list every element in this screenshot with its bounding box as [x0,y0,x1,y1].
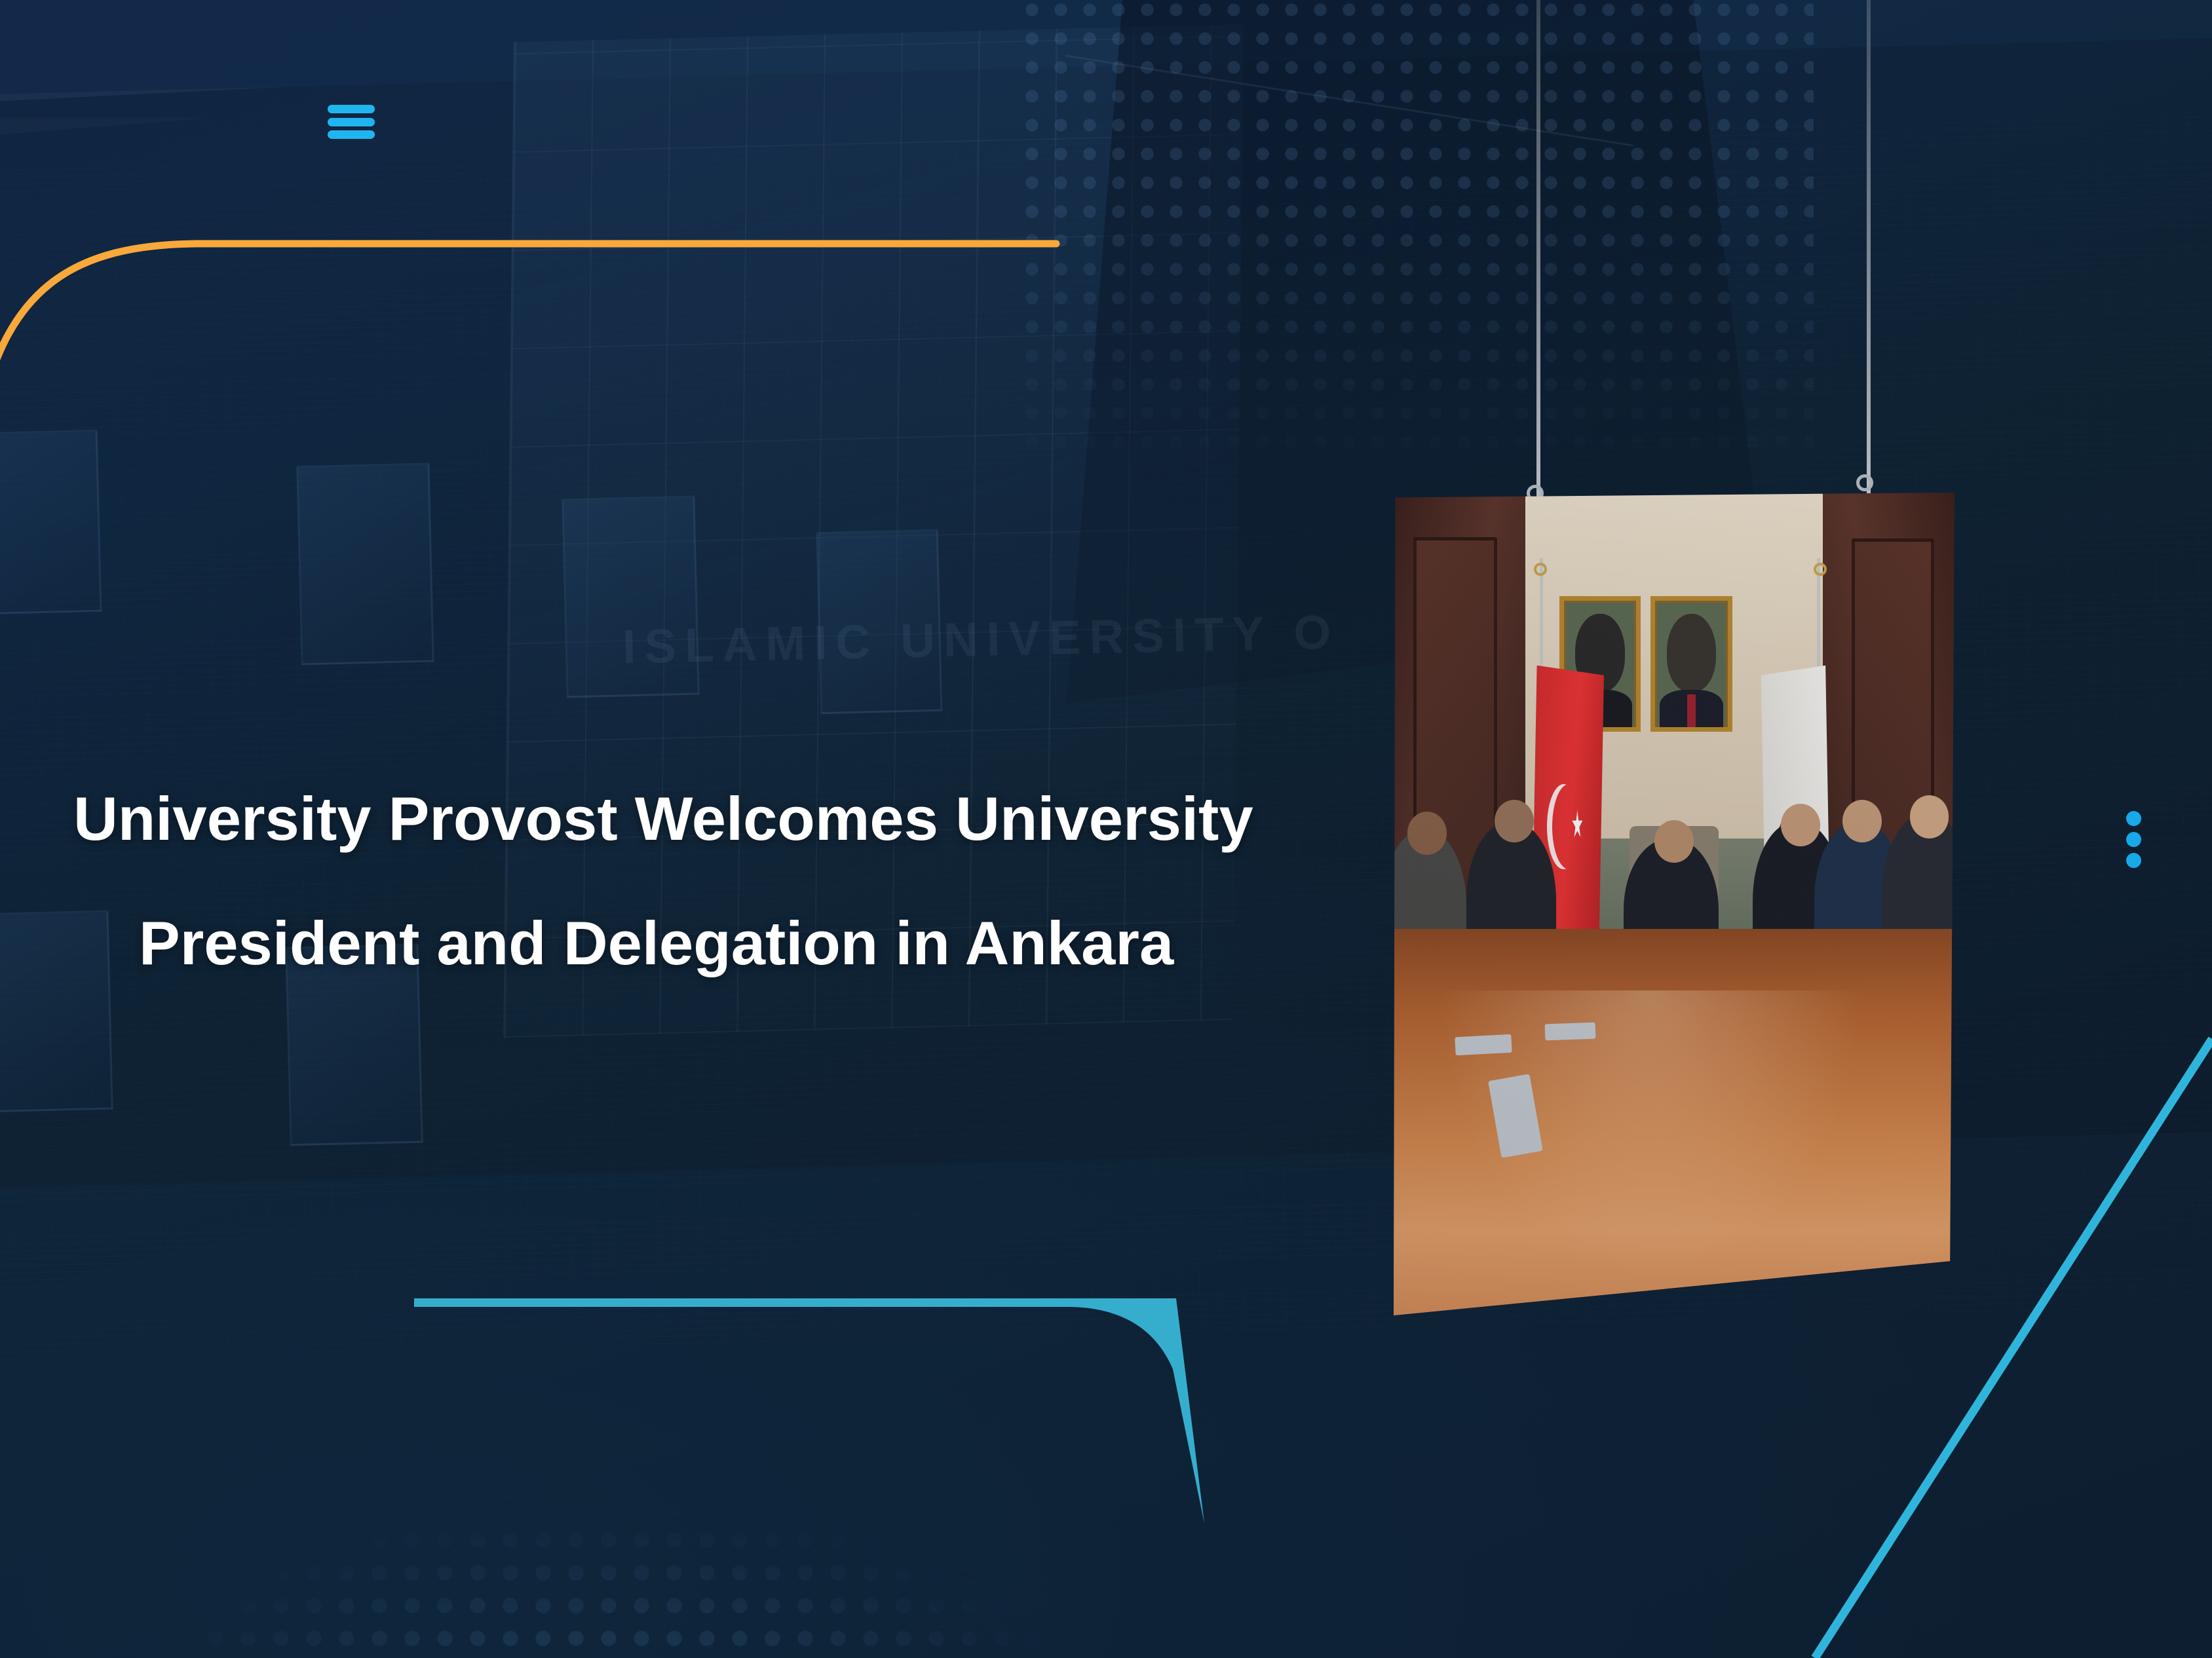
kebab-dot [2126,832,2141,847]
hamburger-bar [328,105,375,113]
kebab-dot [2126,853,2141,868]
feature-photo[interactable] [1394,493,1955,1315]
wire-hook-right [1856,474,1873,491]
slide-canvas: ISLAMIC UNIVERSITY O University Provost … [0,0,2212,1658]
facade-window [0,430,102,615]
halftone-dots-top [1018,0,1814,481]
hamburger-bar [328,118,375,126]
title-line-2: President and Delegation in Ankara [73,881,1384,1006]
photo-tint-overlay [1394,493,1955,1315]
hamburger-menu-icon[interactable] [328,105,375,139]
halftone-dots-bottom [199,1393,1217,1658]
title-line-1: University Provost Welcomes University [73,784,1253,853]
more-options-icon[interactable] [2126,811,2141,868]
facade-window [296,462,434,665]
hamburger-bar [328,130,375,139]
photo-scene [1394,493,1955,1315]
kebab-dot [2126,811,2141,826]
hanging-wire-left [1536,0,1540,504]
page-title: University Provost Welcomes University P… [73,757,1384,1006]
hanging-wire-right [1867,0,1871,495]
